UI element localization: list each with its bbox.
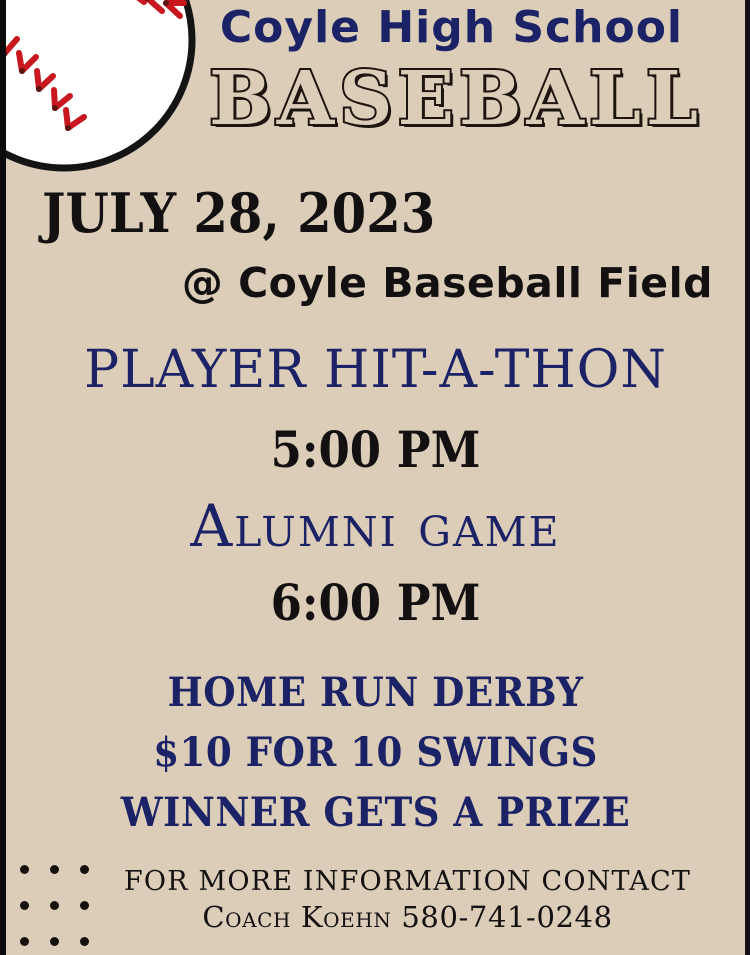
dot (80, 937, 89, 946)
event-title-hit-a-thon: PLAYER HIT-A-THON (6, 344, 745, 396)
derby-price: $10 FOR 10 SWINGS (32, 733, 719, 773)
dot (80, 901, 89, 910)
sport-title-heading: BASEBALL (6, 62, 737, 136)
dot (50, 865, 59, 874)
event-title-alumni-game: Alumni game (6, 497, 745, 555)
dot (20, 865, 29, 874)
event-date: JULY 28, 2023 (42, 186, 435, 240)
dot (80, 865, 89, 874)
school-name-heading: Coyle High School (6, 6, 737, 50)
dot (20, 937, 29, 946)
derby-heading: HOME RUN DERBY (32, 673, 719, 713)
dot (20, 901, 29, 910)
dot (50, 937, 59, 946)
derby-prize: WINNER GETS A PRIZE (32, 793, 719, 833)
dot-grid-decoration (20, 865, 110, 955)
baseball-event-flyer: Coyle High School BASEBALL JULY 28, 2023… (0, 0, 750, 955)
dot (50, 901, 59, 910)
contact-instruction: FOR MORE INFORMATION CONTACT (114, 868, 701, 895)
event-time-hit-a-thon: 5:00 PM (43, 425, 708, 475)
event-time-alumni-game: 6:00 PM (43, 578, 708, 628)
event-venue: @ Coyle Baseball Field (6, 263, 735, 304)
contact-details: Coach Koehn 580-741-0248 (114, 903, 701, 932)
